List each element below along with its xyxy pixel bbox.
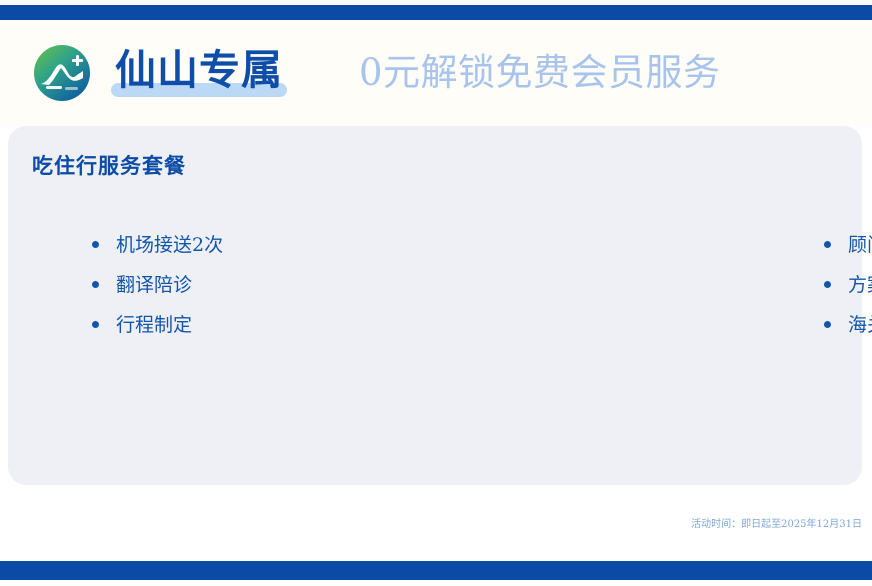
benefit-column-left: 机场接送2次 翻译陪诊 行程制定 [8,234,380,336]
brand-name-wrap: 仙山专属 [111,47,287,99]
list-item-label: 海关带关1次 [848,314,872,336]
bullet-dot-icon [92,241,99,248]
bullet-dot-icon [824,241,831,248]
top-accent-bar [0,5,872,20]
list-item-label: 顾问全程跟踪 [848,234,872,256]
list-item: 顾问全程跟踪 [820,234,848,256]
list-item: 行程制定 [88,314,380,336]
card-title: 吃住行服务套餐 [32,152,186,180]
bullet-dot-icon [824,281,831,288]
bullet-dot-icon [92,281,99,288]
bottom-accent-bar [0,561,872,580]
benefit-columns: 机场接送2次 翻译陪诊 行程制定 顾问全程跟踪 [8,234,862,336]
logo-icon [33,44,91,102]
benefit-column-right: 顾问全程跟踪 方案对接 海关带关1次 [380,234,820,336]
list-item-label: 机场接送2次 [116,234,223,256]
brand-name: 仙山专属 [115,47,283,93]
bullet-dot-icon [92,321,99,328]
list-item: 方案对接 [820,274,848,296]
list-item: 海关带关1次 [820,314,848,336]
list-item: 机场接送2次 [88,234,380,256]
promo-headline: 0元解锁免费会员服务 [359,51,721,95]
list-item-label: 翻译陪诊 [116,274,192,296]
list-item-label: 行程制定 [116,314,192,336]
service-package-card: 吃住行服务套餐 机场接送2次 翻译陪诊 行程制定 [8,126,862,485]
list-item-label: 方案对接 [848,274,872,296]
bullet-dot-icon [824,321,831,328]
brand-lockup: 仙山专属 [33,44,287,102]
list-item: 翻译陪诊 [88,274,380,296]
campaign-period-note: 活动时间：即日起至2025年12月31日 [691,518,862,532]
header-band: 仙山专属 0元解锁免费会员服务 [0,20,872,126]
benefit-list-left: 机场接送2次 翻译陪诊 行程制定 [88,234,380,336]
